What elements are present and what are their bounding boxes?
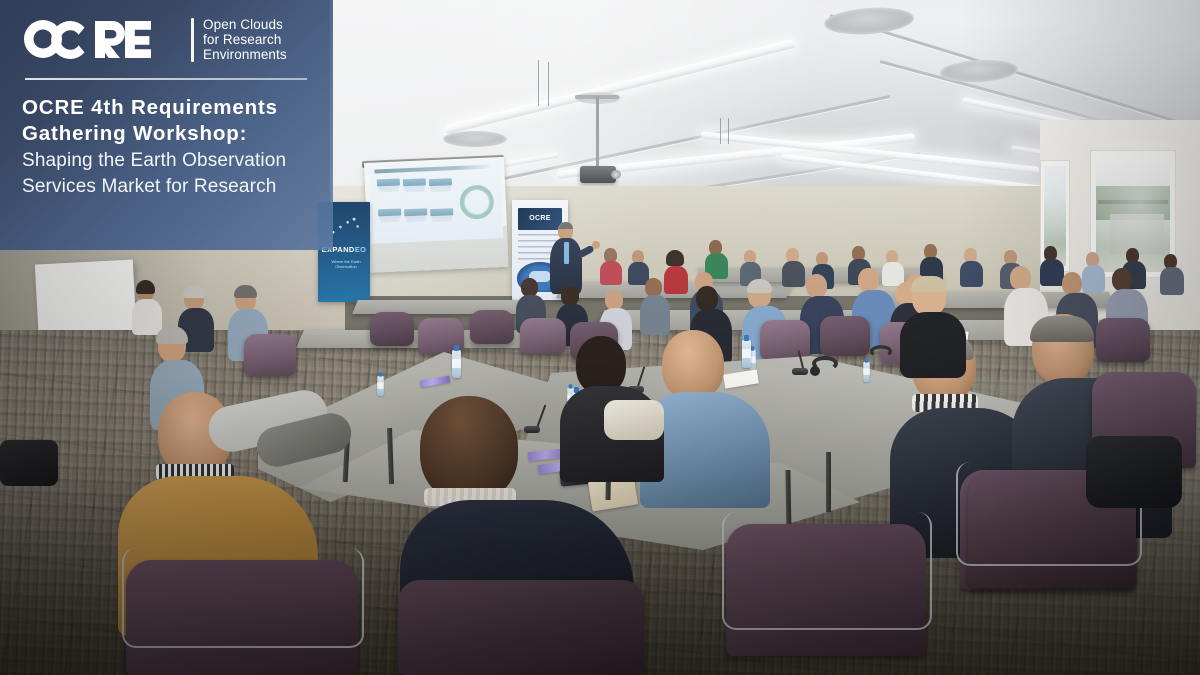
headphones [870, 345, 892, 358]
panelist-hair [666, 250, 684, 266]
hair [911, 276, 947, 292]
headphone-cup [810, 366, 820, 376]
meeting-chair [760, 320, 810, 360]
ocre-wordmark-icon [22, 18, 182, 62]
presenter-hair [559, 222, 573, 229]
hanging-wire [720, 118, 721, 144]
event-title-block: OCRE 4th Requirements Gathering Workshop… [22, 95, 313, 199]
hair [136, 280, 155, 294]
screenshot-canvas: EXPANDEO Where the Earth Observation OCR… [0, 0, 1200, 675]
table-leg [826, 452, 831, 512]
water-bottle [377, 376, 383, 396]
meeting-chair [520, 318, 566, 354]
hair [183, 286, 205, 298]
handbag [604, 400, 664, 440]
ocre-logo: Open Clouds for Research Environments [22, 18, 313, 62]
water-bottle [863, 362, 869, 382]
meeting-chair [370, 312, 414, 346]
event-title-line2: Gathering Workshop: [22, 121, 313, 147]
presenter-hand [592, 241, 600, 249]
hanging-wire [728, 118, 729, 144]
hanging-wire [548, 62, 549, 106]
hanging-wire [538, 60, 539, 106]
microphone-base [792, 368, 808, 375]
hair [747, 279, 772, 293]
overlay-divider [25, 78, 307, 80]
logo-tagline-line3: Environments [203, 47, 287, 62]
floor-bag [1086, 436, 1182, 508]
slide-box [377, 178, 400, 186]
slide-box [403, 178, 426, 186]
water-bottle [742, 340, 751, 368]
chair-frame [722, 512, 932, 630]
slide-box [378, 208, 401, 216]
logo-tagline-line2: for Research [203, 32, 281, 47]
projector-mount-pole [596, 96, 599, 170]
meeting-chair [820, 316, 870, 356]
slide-box [429, 178, 452, 186]
presenter-tie [564, 242, 569, 264]
microphone-base [524, 426, 540, 433]
slide-box [404, 208, 427, 216]
banner-word-accent: EO [355, 245, 367, 254]
projector-lens [611, 170, 621, 179]
banner-subtext: Where the Earth Observation [328, 259, 364, 269]
meeting-chair [1096, 318, 1150, 362]
meeting-chair [470, 310, 514, 344]
hair [1030, 316, 1094, 342]
meeting-chair [244, 334, 296, 376]
water-bottle [452, 350, 461, 378]
banner-ocre-logo: OCRE [518, 208, 562, 230]
floor-bag [0, 440, 58, 486]
hair [156, 326, 188, 344]
logo-tagline-line1: Open Clouds [203, 17, 283, 32]
hair [234, 285, 257, 298]
chair-frame [122, 548, 364, 648]
ceiling-vent [443, 131, 507, 147]
event-title-line1: OCRE 4th Requirements [22, 95, 313, 121]
logo-tagline: Open Clouds for Research Environments [203, 18, 287, 62]
event-subtitle-line1: Shaping the Earth Observation [22, 148, 313, 173]
title-overlay-panel: Open Clouds for Research Environments OC… [0, 0, 333, 250]
logo-divider-bar [191, 18, 194, 62]
slide-box [430, 208, 453, 216]
presentation-slide [368, 160, 503, 244]
event-subtitle-line2: Services Market for Research [22, 174, 313, 199]
meeting-chair [398, 580, 644, 675]
projection-screen [364, 157, 509, 273]
slide-title-bar [374, 164, 492, 173]
